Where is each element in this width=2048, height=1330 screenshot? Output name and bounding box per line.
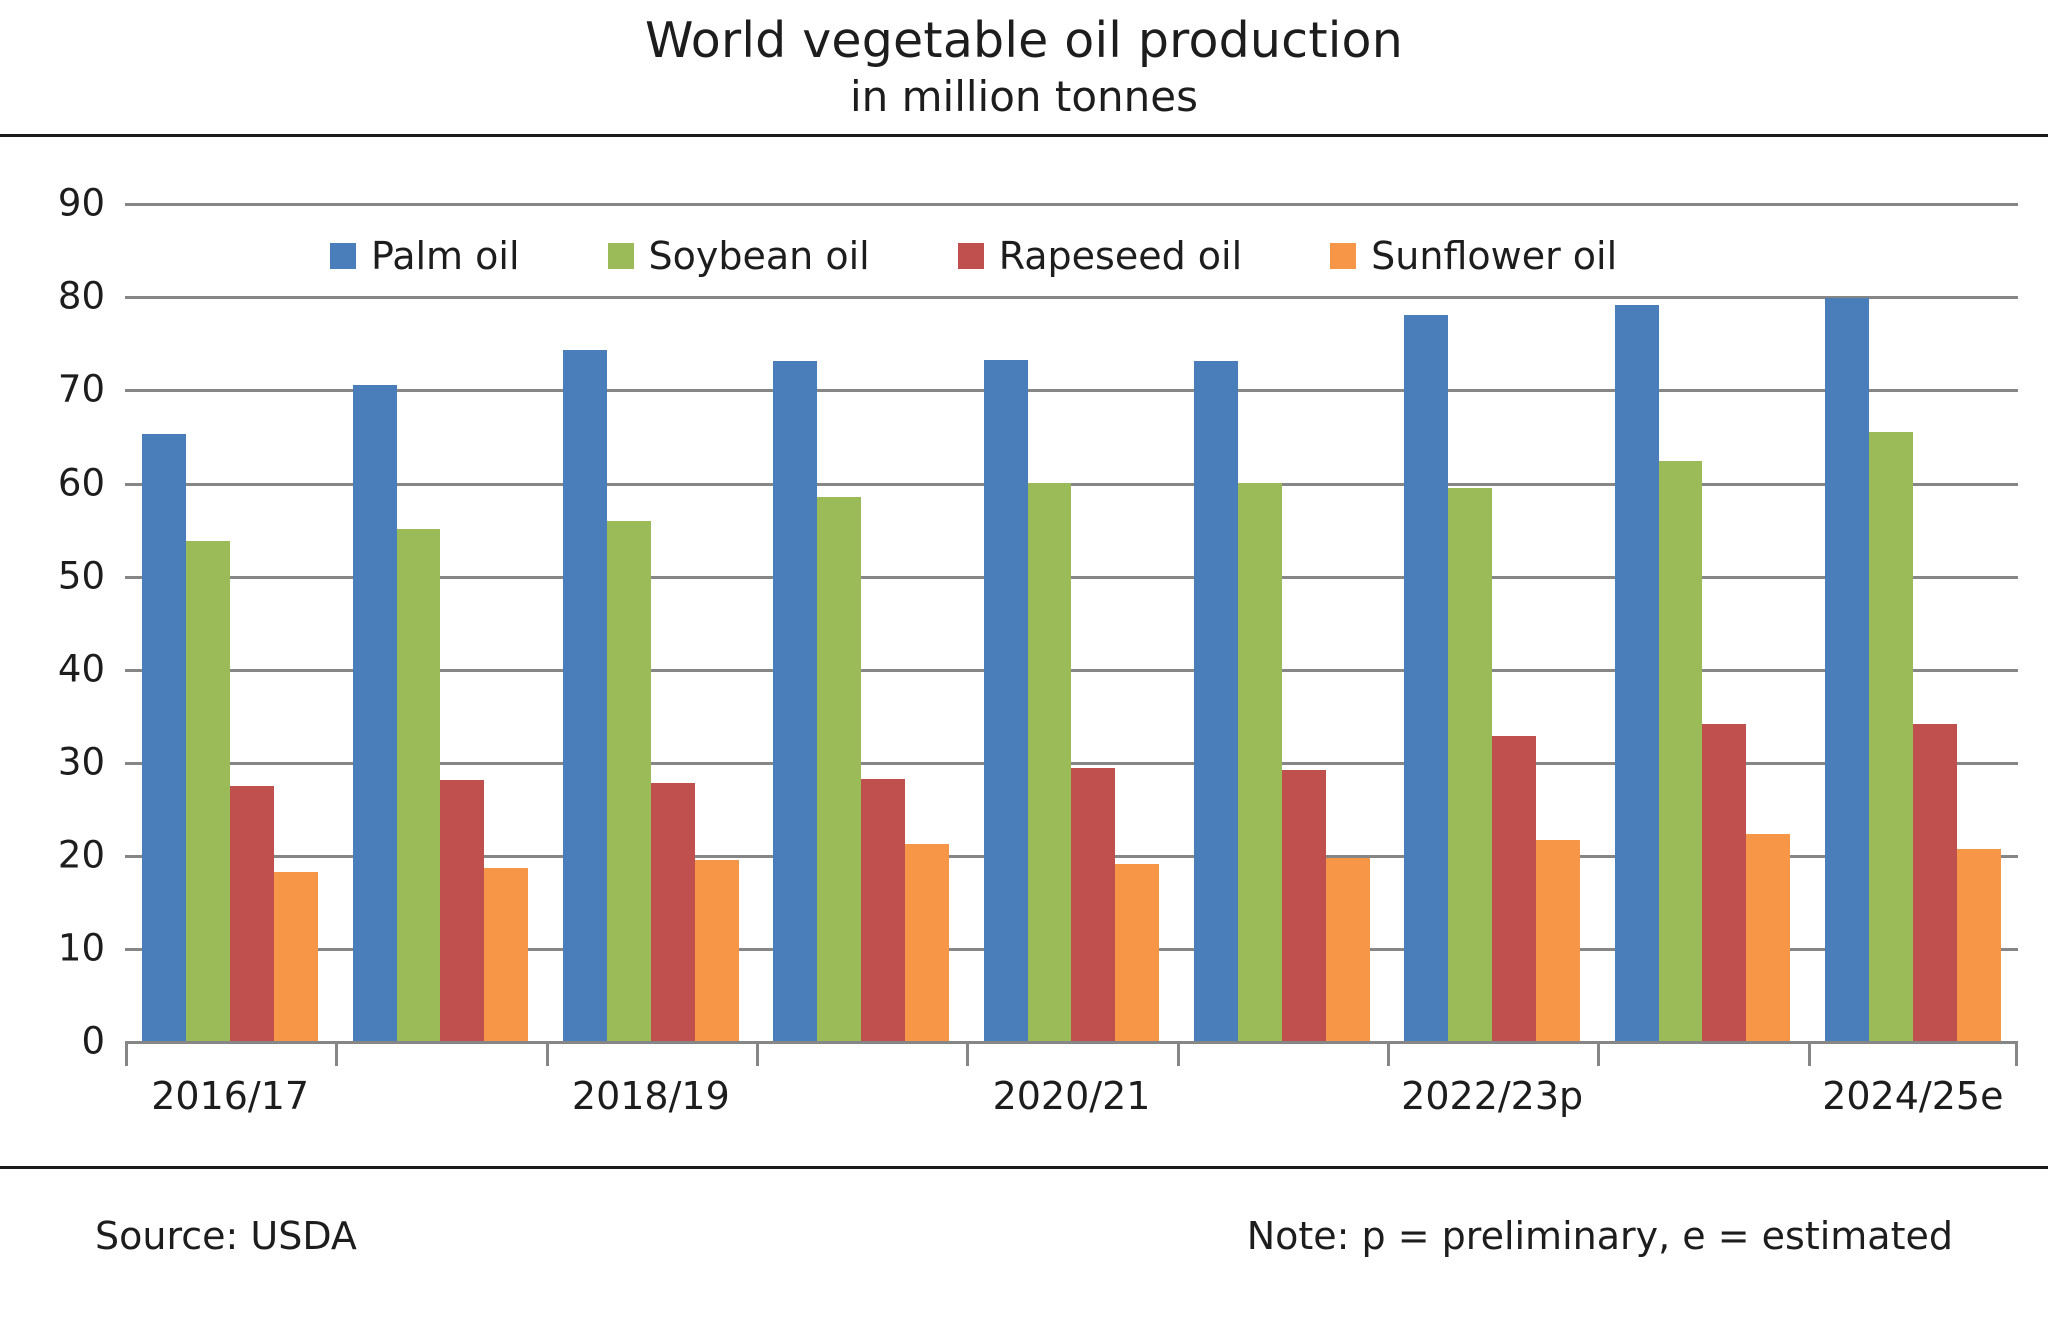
bar-rapeseed-oil[interactable] xyxy=(1492,736,1536,1041)
bar-soybean-oil[interactable] xyxy=(1869,432,1913,1041)
legend-swatch-icon xyxy=(330,243,356,269)
legend-label: Rapeseed oil xyxy=(999,237,1242,275)
x-tick-label-2020-21: 2020/21 xyxy=(993,1077,1151,1115)
bar-rapeseed-oil[interactable] xyxy=(1071,768,1115,1041)
x-tick-label-2024-25e: 2024/25e xyxy=(1822,1077,2003,1115)
legend-item-rapeseed-oil[interactable]: Rapeseed oil xyxy=(958,237,1242,275)
bar-group xyxy=(353,203,529,1041)
y-axis-labels: 0102030405060708090 xyxy=(0,203,105,1041)
x-tick-label-2022-23p: 2022/23p xyxy=(1401,1077,1583,1115)
bar-soybean-oil[interactable] xyxy=(1238,483,1282,1041)
bar-group xyxy=(773,203,949,1041)
bar-sunflower-oil[interactable] xyxy=(484,868,528,1041)
bar-palm-oil[interactable] xyxy=(773,361,817,1041)
y-tick-label-60: 60 xyxy=(58,464,105,501)
bar-soybean-oil[interactable] xyxy=(817,497,861,1041)
definition-note: Note: p = preliminary, e = estimated xyxy=(1247,1185,1953,1255)
bar-group xyxy=(1615,203,1791,1041)
y-tick-label-0: 0 xyxy=(81,1023,105,1060)
bar-palm-oil[interactable] xyxy=(353,385,397,1041)
page-title: World vegetable oil production xyxy=(0,14,2048,69)
y-tick-label-20: 20 xyxy=(58,836,105,873)
x-tick-label-2016-17: 2016/17 xyxy=(151,1077,309,1115)
bar-palm-oil[interactable] xyxy=(1615,305,1659,1042)
bar-sunflower-oil[interactable] xyxy=(274,872,318,1041)
legend-label: Sunflower oil xyxy=(1371,237,1617,275)
x-axis-tick xyxy=(1808,1044,1811,1066)
x-axis-tick xyxy=(335,1044,338,1066)
x-axis-tick xyxy=(966,1044,969,1066)
bar-sunflower-oil[interactable] xyxy=(1746,834,1790,1041)
bar-group xyxy=(1404,203,1580,1041)
y-tick-label-90: 90 xyxy=(58,185,105,222)
bar-soybean-oil[interactable] xyxy=(1448,488,1492,1041)
bar-rapeseed-oil[interactable] xyxy=(861,779,905,1042)
chart-header: World vegetable oil production in millio… xyxy=(0,0,2048,121)
bar-rapeseed-oil[interactable] xyxy=(1702,724,1746,1042)
x-axis-line xyxy=(125,1041,2018,1044)
legend-label: Soybean oil xyxy=(649,237,870,275)
chart-canvas: 0102030405060708090 2016/172018/192020/2… xyxy=(0,137,2048,1147)
x-axis-tick xyxy=(756,1044,759,1066)
legend-swatch-icon xyxy=(1330,243,1356,269)
bar-group xyxy=(563,203,739,1041)
bar-sunflower-oil[interactable] xyxy=(1957,849,2001,1041)
bar-rapeseed-oil[interactable] xyxy=(230,786,274,1041)
source-note: Source: USDA xyxy=(95,1185,357,1255)
bar-soybean-oil[interactable] xyxy=(1659,461,1703,1041)
x-axis-tick xyxy=(1387,1044,1390,1066)
footer-divider xyxy=(0,1166,2048,1169)
legend-swatch-icon xyxy=(608,243,634,269)
bar-soybean-oil[interactable] xyxy=(1028,483,1072,1041)
bar-sunflower-oil[interactable] xyxy=(1536,840,1580,1041)
bar-sunflower-oil[interactable] xyxy=(695,860,739,1042)
bar-group xyxy=(1825,203,2001,1041)
bar-palm-oil[interactable] xyxy=(563,350,607,1041)
legend-item-sunflower-oil[interactable]: Sunflower oil xyxy=(1330,237,1617,275)
y-tick-label-70: 70 xyxy=(58,371,105,408)
legend-swatch-icon xyxy=(958,243,984,269)
x-tick-label-2018-19: 2018/19 xyxy=(572,1077,730,1115)
x-axis-tick xyxy=(1597,1044,1600,1066)
x-axis-tick xyxy=(1177,1044,1180,1066)
x-axis-tick xyxy=(546,1044,549,1066)
legend-item-soybean-oil[interactable]: Soybean oil xyxy=(608,237,870,275)
bar-sunflower-oil[interactable] xyxy=(1115,864,1159,1041)
bar-group xyxy=(1194,203,1370,1041)
y-tick-label-40: 40 xyxy=(58,650,105,687)
bar-sunflower-oil[interactable] xyxy=(1326,858,1370,1041)
bar-soybean-oil[interactable] xyxy=(607,521,651,1041)
bar-palm-oil[interactable] xyxy=(1404,315,1448,1041)
bar-rapeseed-oil[interactable] xyxy=(440,780,484,1041)
chart-footer: Source: USDA Note: p = preliminary, e = … xyxy=(0,1185,2048,1330)
bar-palm-oil[interactable] xyxy=(984,360,1028,1042)
bar-rapeseed-oil[interactable] xyxy=(1282,770,1326,1041)
bar-soybean-oil[interactable] xyxy=(186,541,230,1041)
bar-group xyxy=(984,203,1160,1041)
plot-area xyxy=(125,203,2018,1041)
bar-groups xyxy=(125,203,2018,1041)
y-tick-label-80: 80 xyxy=(58,278,105,315)
bar-group xyxy=(142,203,318,1041)
bar-rapeseed-oil[interactable] xyxy=(1913,724,1957,1042)
chart-legend: Palm oilSoybean oilRapeseed oilSunflower… xyxy=(330,237,1617,275)
legend-item-palm-oil[interactable]: Palm oil xyxy=(330,237,520,275)
bar-palm-oil[interactable] xyxy=(1825,298,1869,1041)
y-tick-label-10: 10 xyxy=(58,930,105,967)
y-tick-label-50: 50 xyxy=(58,557,105,594)
legend-label: Palm oil xyxy=(371,237,520,275)
bar-sunflower-oil[interactable] xyxy=(905,844,949,1041)
x-axis-tick xyxy=(2015,1044,2018,1066)
bar-palm-oil[interactable] xyxy=(1194,361,1238,1041)
x-axis-tick xyxy=(125,1044,128,1066)
y-tick-label-30: 30 xyxy=(58,743,105,780)
page-subtitle: in million tonnes xyxy=(0,73,2048,121)
x-axis-labels: 2016/172018/192020/212022/23p2024/25e xyxy=(125,1077,2018,1137)
bar-palm-oil[interactable] xyxy=(142,434,186,1041)
bar-rapeseed-oil[interactable] xyxy=(651,783,695,1041)
bar-soybean-oil[interactable] xyxy=(397,529,441,1041)
